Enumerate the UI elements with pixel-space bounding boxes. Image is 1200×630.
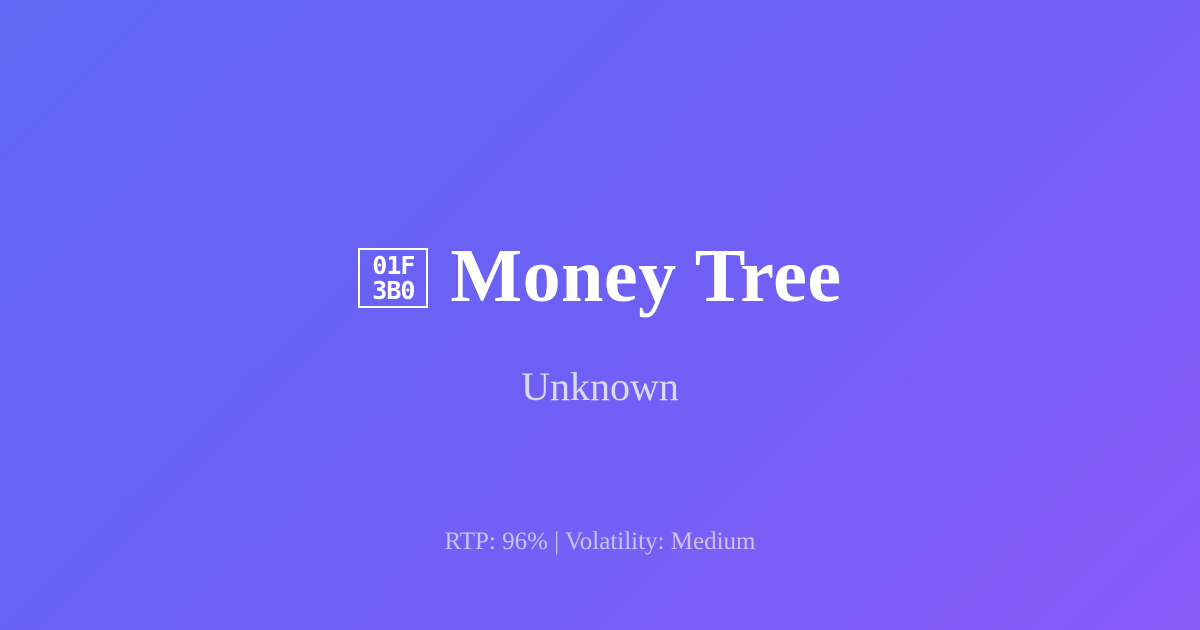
game-title-text: Money Tree: [450, 232, 841, 320]
card-content: 01F 3B0 Money Tree Unknown RTP: 96% | Vo…: [0, 0, 1200, 630]
slot-machine-icon: 01F 3B0: [358, 248, 428, 308]
game-meta-line: RTP: 96% | Volatility: Medium: [0, 526, 1200, 558]
page-title: 01F 3B0 Money Tree: [0, 232, 1200, 320]
game-subtitle: Unknown: [0, 362, 1200, 412]
tofu-codepoint-line-1: 01F: [372, 253, 414, 278]
game-og-card: 01F 3B0 Money Tree Unknown RTP: 96% | Vo…: [0, 0, 1200, 630]
tofu-codepoint-line-2: 3B0: [372, 278, 414, 303]
